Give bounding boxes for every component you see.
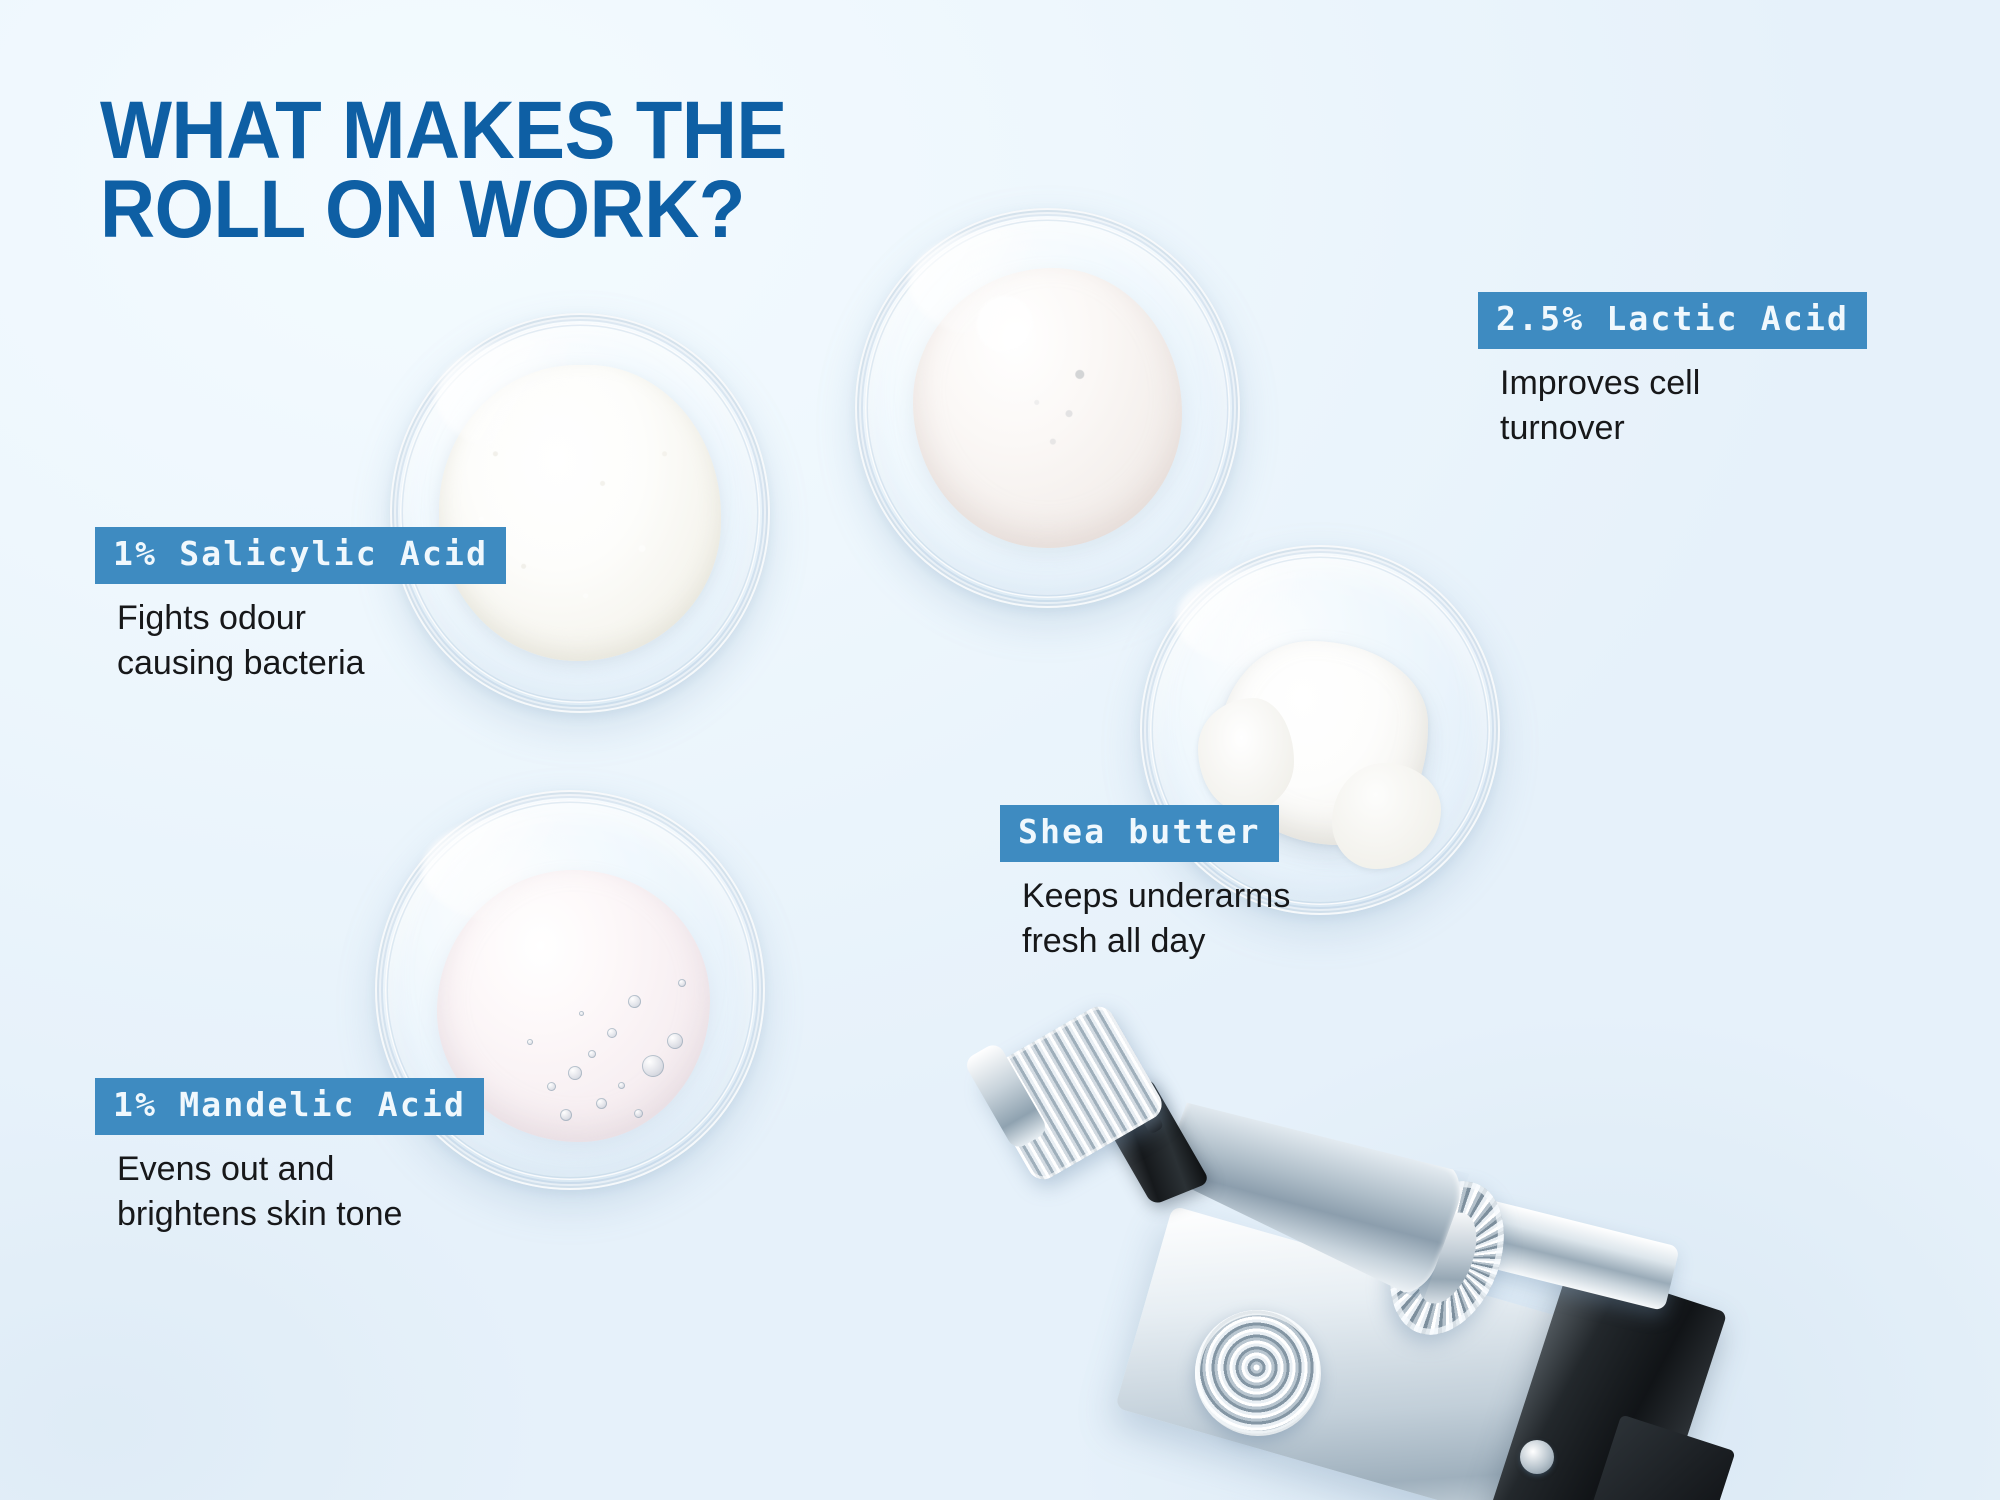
ingredient-description-lactic-acid: Improves cell turnover (1478, 361, 1867, 451)
ingredient-label-lactic-acid: 2.5% Lactic Acid Improves cell turnover (1478, 292, 1867, 451)
ingredient-label-mandelic-acid: 1% Mandelic Acid Evens out and brightens… (95, 1078, 484, 1237)
ingredient-chip-shea-butter: Shea butter (1000, 805, 1279, 862)
microscope-objective-prop (980, 1010, 1720, 1500)
petri-dish-lactic-acid (855, 208, 1240, 608)
glass-glint (909, 228, 1102, 340)
glass-glint (436, 337, 641, 457)
glass-glint (1176, 567, 1363, 671)
ingredient-description-salicylic-acid: Fights odour causing bacteria (95, 596, 506, 686)
ingredient-chip-lactic-acid: 2.5% Lactic Acid (1478, 292, 1867, 349)
ingredient-chip-salicylic-acid: 1% Salicylic Acid (95, 527, 506, 584)
device-screw (1520, 1440, 1554, 1474)
ingredient-description-shea-butter: Keeps underarms fresh all day (1000, 874, 1290, 964)
page-title: WHAT MAKES THE ROLL ON WORK? (100, 92, 787, 249)
ingredient-chip-mandelic-acid: 1% Mandelic Acid (95, 1078, 484, 1135)
ingredient-label-shea-butter: Shea butter Keeps underarms fresh all da… (1000, 805, 1290, 964)
ingredient-label-salicylic-acid: 1% Salicylic Acid Fights odour causing b… (95, 527, 506, 686)
infographic-canvas: WHAT MAKES THE ROLL ON WORK? (0, 0, 2000, 1500)
glass-glint (422, 814, 625, 926)
ingredient-description-mandelic-acid: Evens out and brightens skin tone (95, 1147, 484, 1237)
